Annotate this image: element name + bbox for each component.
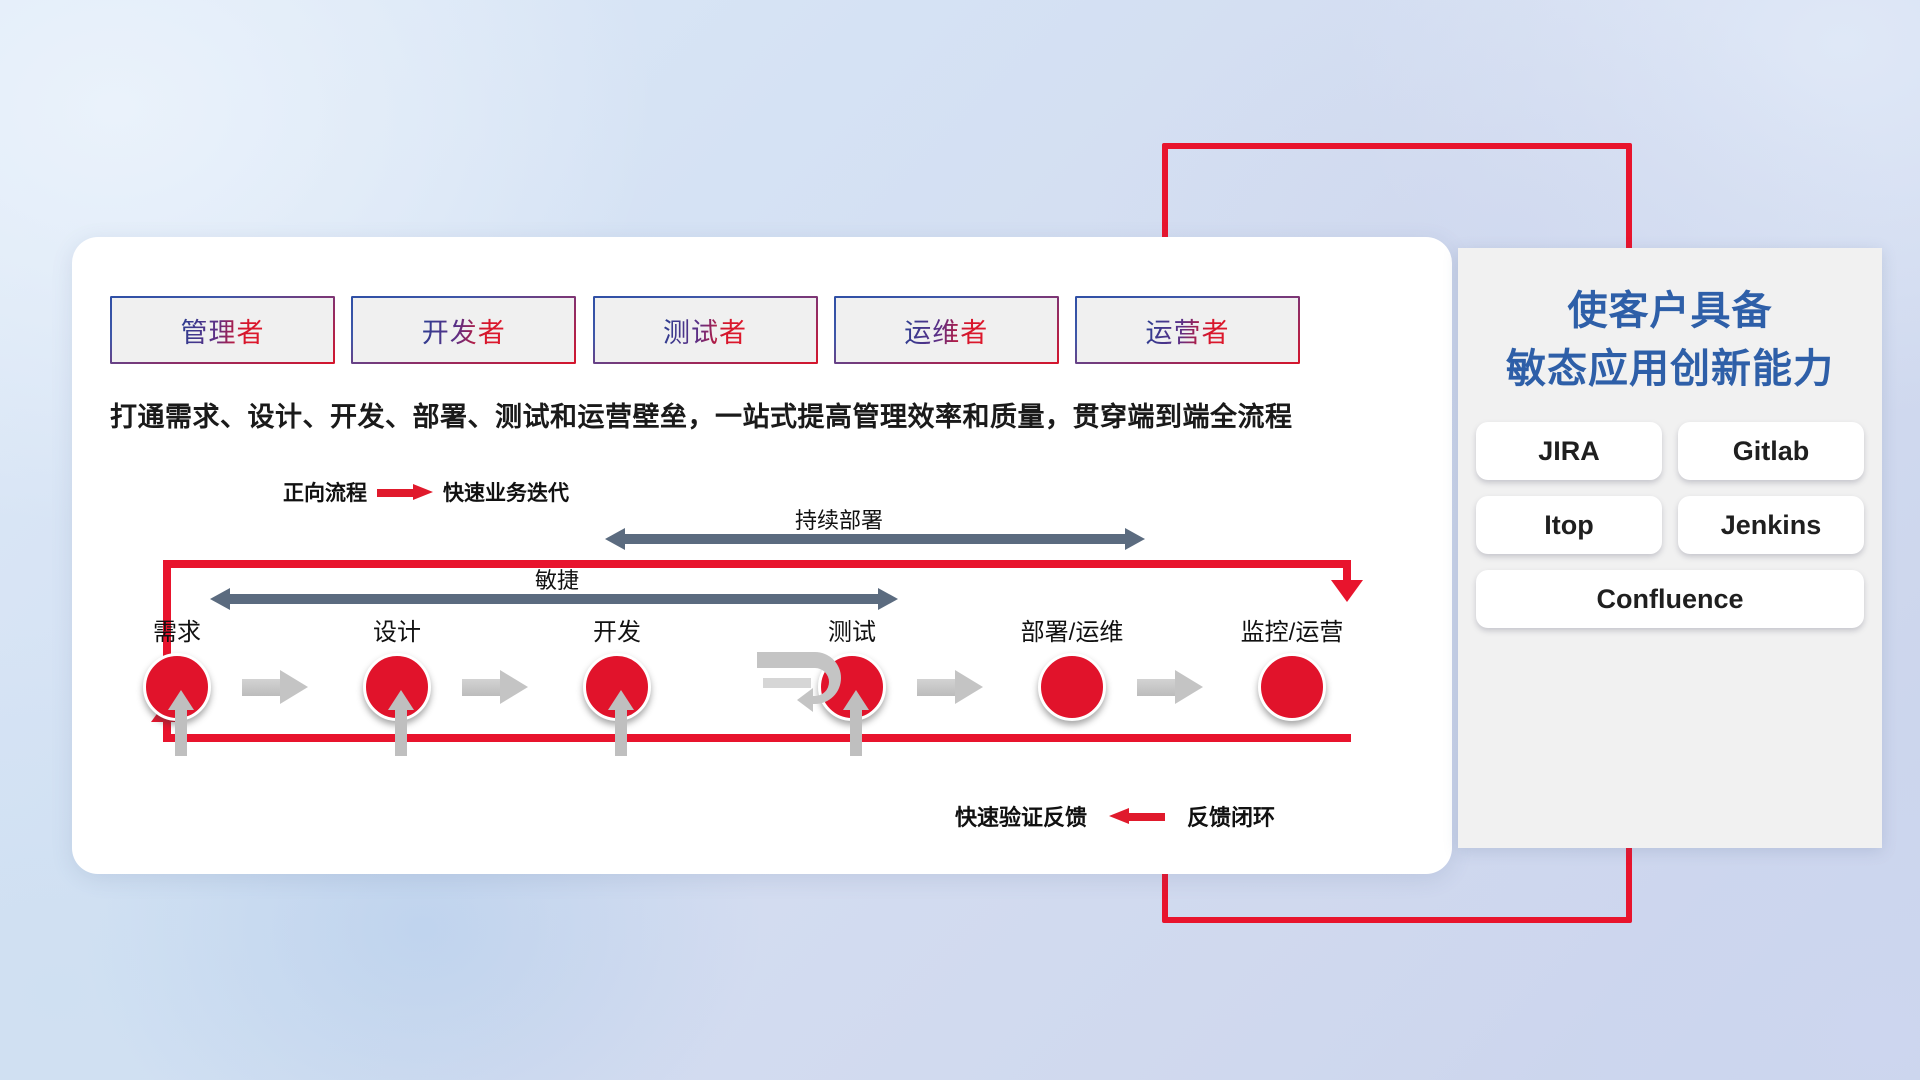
role-box-row: 管理者 开发者 测试者 运维者 运营者 [110,296,1300,364]
loop-up-arrow-requirements-icon [168,690,194,756]
role-label: 管理者 [181,311,265,350]
arrow-right-gray-icon [917,670,983,704]
loop-up-arrow-development-icon [608,690,634,756]
forward-flow-target-label: 快速业务迭代 [443,477,569,507]
forward-flow-source-label: 正向流程 [283,477,367,507]
arrow-right-gray-icon [1137,670,1203,704]
stage-deploy-ops[interactable]: 部署/运维 [1007,612,1137,721]
panel-title-line2: 敏态应用创新能力 [1458,340,1882,398]
role-box-operations-maintenance[interactable]: 运维者 [834,296,1059,364]
loop-up-arrow-design-icon [388,690,414,756]
stage-label: 测试 [787,612,917,647]
role-box-manager[interactable]: 管理者 [110,296,335,364]
arrow-right-gray-icon [462,670,528,704]
stage-label: 设计 [332,612,462,647]
tool-list: JIRA Gitlab Itop Jenkins Confluence [1476,422,1864,628]
double-arrow-continuous-deployment-icon [605,528,1145,550]
feedback-target-label: 快速验证反馈 [955,800,1087,832]
panel-title: 使客户具备 敏态应用创新能力 [1458,248,1882,398]
role-label: 开发者 [422,311,506,350]
stage-label: 部署/运维 [1007,612,1137,647]
loop-arrow-down-icon [1331,580,1363,602]
tool-confluence[interactable]: Confluence [1476,570,1864,628]
stage-label: 开发 [552,612,682,647]
arrow-right-gray-icon [242,670,308,704]
role-box-tester[interactable]: 测试者 [593,296,818,364]
loop-up-arrow-testing-icon [843,690,869,756]
role-label: 运维者 [904,311,988,350]
feedback-legend: 快速验证反馈 反馈闭环 [955,800,1275,832]
arrow-right-red-icon [377,486,433,499]
stage-label: 需求 [112,612,242,647]
stage-dot [1258,653,1326,721]
tool-gitlab[interactable]: Gitlab [1678,422,1864,480]
role-box-operations[interactable]: 运营者 [1075,296,1300,364]
value-panel: 使客户具备 敏态应用创新能力 JIRA Gitlab Itop Jenkins … [1458,248,1882,848]
feedback-source-label: 反馈闭环 [1187,800,1275,832]
role-label: 运营者 [1146,311,1230,350]
arrow-left-red-icon [1109,810,1165,823]
iterate-loop-gray-icon [755,652,851,718]
stage-monitor-operate[interactable]: 监控/运营 [1227,612,1357,721]
role-label: 测试者 [663,311,747,350]
panel-title-line1: 使客户具备 [1458,282,1882,340]
stage-dot [1038,653,1106,721]
tool-jira[interactable]: JIRA [1476,422,1662,480]
tool-jenkins[interactable]: Jenkins [1678,496,1864,554]
stage-label: 监控/运营 [1227,612,1357,647]
description-text: 打通需求、设计、开发、部署、测试和运营壁垒，一站式提高管理效率和质量，贯穿端到端… [110,395,1410,434]
tool-itop[interactable]: Itop [1476,496,1662,554]
role-box-developer[interactable]: 开发者 [351,296,576,364]
forward-flow-legend: 正向流程 快速业务迭代 [283,477,569,507]
